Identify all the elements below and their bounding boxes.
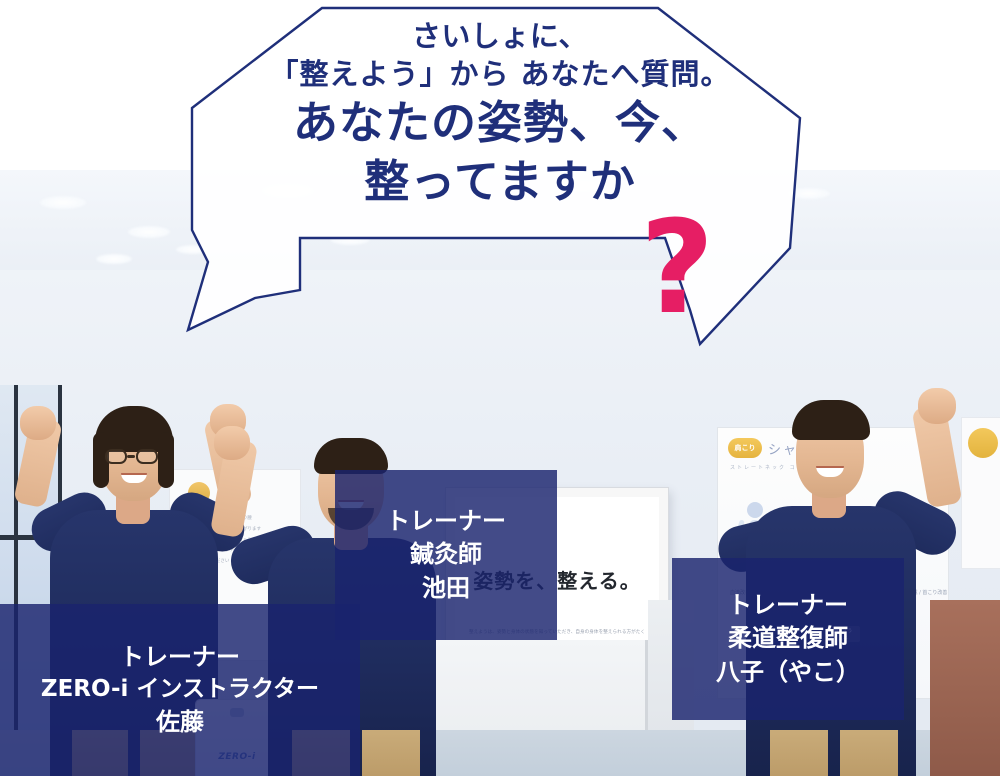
label-yako: トレーナー 柔道整復師 八子（やこ） [672,558,904,720]
headline-line-2: 「整えよう」から あなたへ質問。 [190,56,810,94]
glasses-icon [105,449,127,464]
ikeda-fist-left [214,426,250,460]
yako-pants [840,730,898,776]
downlight-icon [96,254,132,264]
label-sato-qualification: ZERO-i インストラクター [41,674,319,706]
sato-hair-side [158,432,174,488]
label-yako-name: 八子（やこ） [716,656,860,689]
label-sato: トレーナー ZERO-i インストラクター 佐藤 [0,604,360,776]
downlight-icon [40,196,86,209]
label-ikeda-role: トレーナー [386,505,506,538]
sato-fist-left [20,406,56,440]
ikeda-pants [362,730,420,776]
yako-pants [770,730,828,776]
label-ikeda-qualification: 鍼灸師 [410,538,482,571]
label-yako-role: トレーナー [728,589,848,622]
poster-circle-icon [968,428,998,458]
question-mark: ? [640,205,714,333]
poster-hero: ストレートネック・巻き肩・反り腰姿勢の乱れは身体の不調につながります コンディシ… [0,0,1000,776]
label-sato-role: トレーナー [120,641,240,674]
downlight-icon [176,245,210,254]
headline-line-1: さいしょに、 [190,18,810,56]
label-sato-name: 佐藤 [156,706,204,739]
downlight-icon [330,234,370,245]
downlight-icon [128,226,170,238]
floor-right [930,600,1000,776]
yako-fist-right [918,388,956,424]
poster-badge: 肩こり [728,438,762,458]
glasses-bridge-icon [127,455,135,458]
label-yako-qualification: 柔道整復師 [728,622,848,655]
glasses-icon [136,449,158,464]
label-ikeda-name: 池田 [422,572,470,605]
ikeda-hair [314,438,388,474]
headline-line-3: あなたの姿勢、今、 [190,95,810,152]
headline-line-4: 整ってますか [190,154,810,211]
label-ikeda: トレーナー 鍼灸師 池田 [335,470,557,640]
headline-block: さいしょに、 「整えよう」から あなたへ質問。 あなたの姿勢、今、 整ってますか [190,18,810,211]
